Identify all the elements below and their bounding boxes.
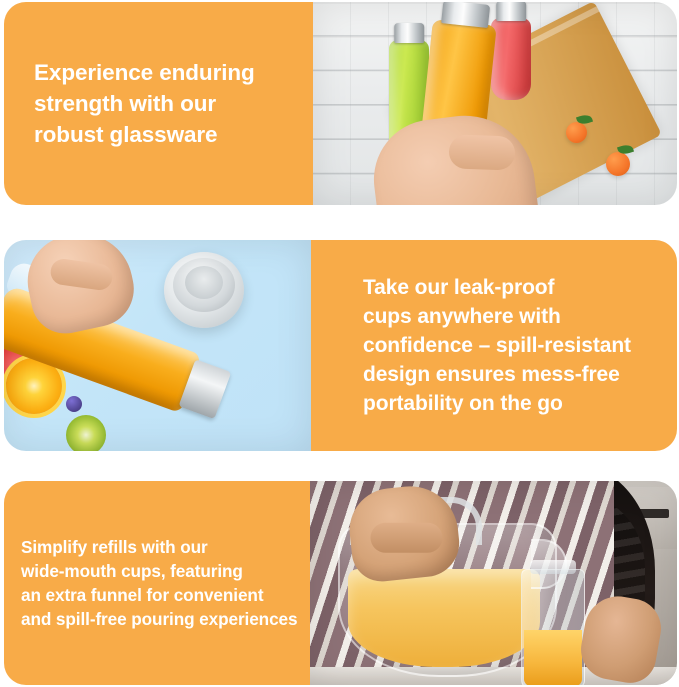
feature-panels-board: Experience enduring strength with our ro… (0, 0, 679, 687)
panel-3-headline: Simplify refills with our wide-mouth cup… (21, 535, 297, 631)
stainless-steel-lid (164, 252, 244, 328)
stainless-steel-cap (496, 2, 526, 21)
panel-1-headline-line-2: strength with our (34, 91, 216, 116)
panel-3-headline-line-3: an extra funnel for convenient (21, 585, 263, 605)
leak-proof-bottle-photo (4, 240, 311, 451)
pitcher-juice (348, 569, 540, 667)
pouring-pitcher-photo (310, 481, 677, 685)
feature-panel-3: Simplify refills with our wide-mouth cup… (4, 481, 677, 685)
panel-2-headline-line-3: confidence – spill-resistant (363, 334, 631, 357)
stainless-steel-cap (394, 23, 424, 43)
panel-2-text-pane: Take our leak-proof cups anywhere with c… (311, 240, 677, 451)
wide-mouth-glass-bottle (521, 569, 585, 685)
panel-1-headline-line-1: Experience enduring (34, 60, 255, 85)
blueberry (66, 396, 82, 412)
red-juice-bottle (491, 18, 531, 100)
panel-2-headline-line-2: cups anywhere with (363, 305, 561, 328)
panel-2-headline-line-5: portability on the go (363, 392, 563, 415)
panel-2-headline: Take our leak-proof cups anywhere with c… (363, 273, 631, 418)
feature-panel-1: Experience enduring strength with our ro… (4, 2, 677, 205)
panel-1-text-pane: Experience enduring strength with our ro… (4, 2, 313, 205)
panel-2-headline-line-4: design ensures mess-free (363, 363, 620, 386)
kiwi-slice (66, 415, 106, 451)
tangerine-icon (606, 152, 630, 176)
juice-bottles-on-wood-photo (313, 2, 677, 205)
feature-panel-2: Take our leak-proof cups anywhere with c… (4, 240, 677, 451)
tangerine-icon (566, 122, 587, 143)
bottle-body (491, 18, 531, 100)
panel-1-headline: Experience enduring strength with our ro… (34, 57, 255, 150)
panel-3-headline-line-1: Simplify refills with our (21, 537, 208, 557)
panel-1-headline-line-3: robust glassware (34, 122, 217, 147)
bottle-juice-fill (524, 630, 582, 685)
panel-3-headline-line-4: and spill-free pouring experiences (21, 609, 297, 629)
panel-2-headline-line-1: Take our leak-proof (363, 276, 554, 299)
panel-3-headline-line-2: wide-mouth cups, featuring (21, 561, 243, 581)
panel-3-text-pane: Simplify refills with our wide-mouth cup… (4, 481, 310, 685)
